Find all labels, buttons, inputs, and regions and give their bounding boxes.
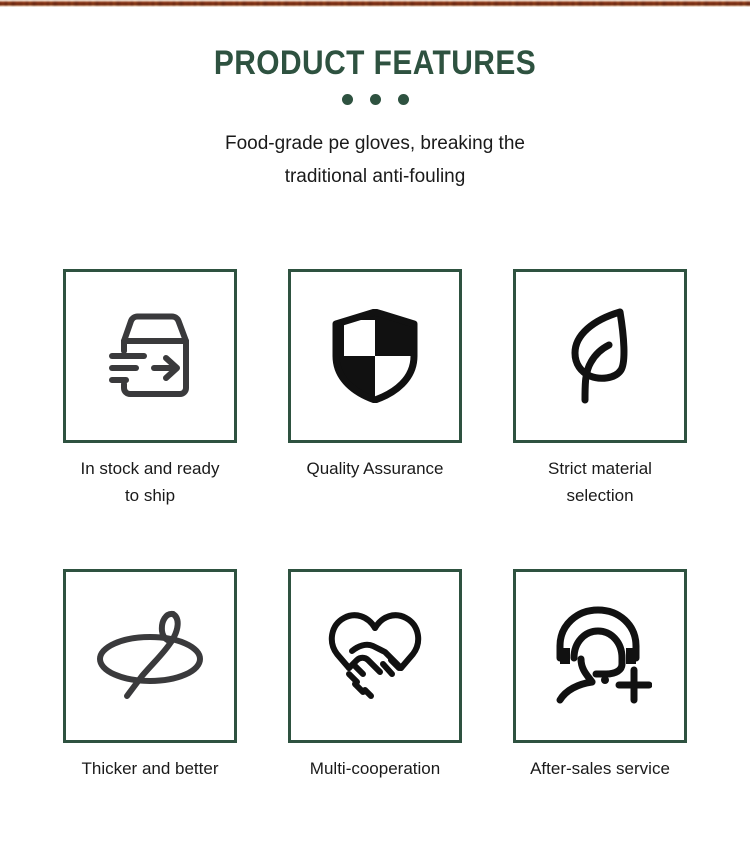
separator-dot bbox=[370, 94, 381, 105]
feature-label-line-2: selection bbox=[513, 482, 687, 509]
page-subtitle-line-1: Food-grade pe gloves, breaking the bbox=[160, 127, 590, 160]
shield-check-quadrant-icon bbox=[332, 309, 418, 403]
icon-frame bbox=[513, 569, 687, 743]
feature-label: Multi-cooperation bbox=[288, 755, 462, 782]
feature-label-line-1: Quality Assurance bbox=[288, 455, 462, 482]
icon-frame bbox=[513, 269, 687, 443]
separator-dot bbox=[398, 94, 409, 105]
shipping-box-arrow-icon bbox=[100, 310, 200, 402]
page-subtitle: Food-grade pe gloves, breaking the tradi… bbox=[160, 127, 590, 193]
feature-card-in-stock: In stock and ready to ship bbox=[63, 269, 237, 509]
feature-card-thicker-better: Thicker and better bbox=[63, 569, 237, 782]
feature-label: Quality Assurance bbox=[288, 455, 462, 482]
header: PRODUCT FEATURES Food-grade pe gloves, b… bbox=[0, 44, 750, 193]
feature-label-line-1: Thicker and better bbox=[63, 755, 237, 782]
page-subtitle-line-2: traditional anti-fouling bbox=[160, 160, 590, 193]
needle-thread-icon bbox=[94, 604, 206, 708]
feature-label: In stock and ready to ship bbox=[63, 455, 237, 509]
feature-card-after-sales-service: After-sales service bbox=[513, 569, 687, 782]
feature-grid-row-1: In stock and ready to ship bbox=[63, 269, 687, 509]
icon-frame bbox=[288, 269, 462, 443]
dot-separator bbox=[0, 94, 750, 105]
feature-card-strict-material: Strict material selection bbox=[513, 269, 687, 509]
feature-label: After-sales service bbox=[513, 755, 687, 782]
feature-card-multi-cooperation: Multi-cooperation bbox=[288, 569, 462, 782]
feature-label: Thicker and better bbox=[63, 755, 237, 782]
feature-card-quality-assurance: Quality Assurance bbox=[288, 269, 462, 509]
feature-label-line-1: Multi-cooperation bbox=[288, 755, 462, 782]
leaf-icon bbox=[563, 306, 637, 406]
handshake-heart-icon bbox=[322, 606, 428, 706]
headset-support-plus-icon bbox=[548, 606, 652, 706]
icon-frame bbox=[63, 269, 237, 443]
feature-label-line-1: Strict material bbox=[513, 455, 687, 482]
icon-frame bbox=[63, 569, 237, 743]
product-features-page: PRODUCT FEATURES Food-grade pe gloves, b… bbox=[0, 0, 750, 850]
separator-dot bbox=[342, 94, 353, 105]
feature-label: Strict material selection bbox=[513, 455, 687, 509]
page-title: PRODUCT FEATURES bbox=[45, 44, 705, 82]
icon-frame bbox=[288, 569, 462, 743]
feature-grid-row-2: Thicker and better M bbox=[63, 569, 687, 782]
feature-label-line-1: After-sales service bbox=[513, 755, 687, 782]
feature-label-line-2: to ship bbox=[63, 482, 237, 509]
feature-label-line-1: In stock and ready bbox=[63, 455, 237, 482]
wood-texture-strip-fade bbox=[0, 0, 750, 7]
